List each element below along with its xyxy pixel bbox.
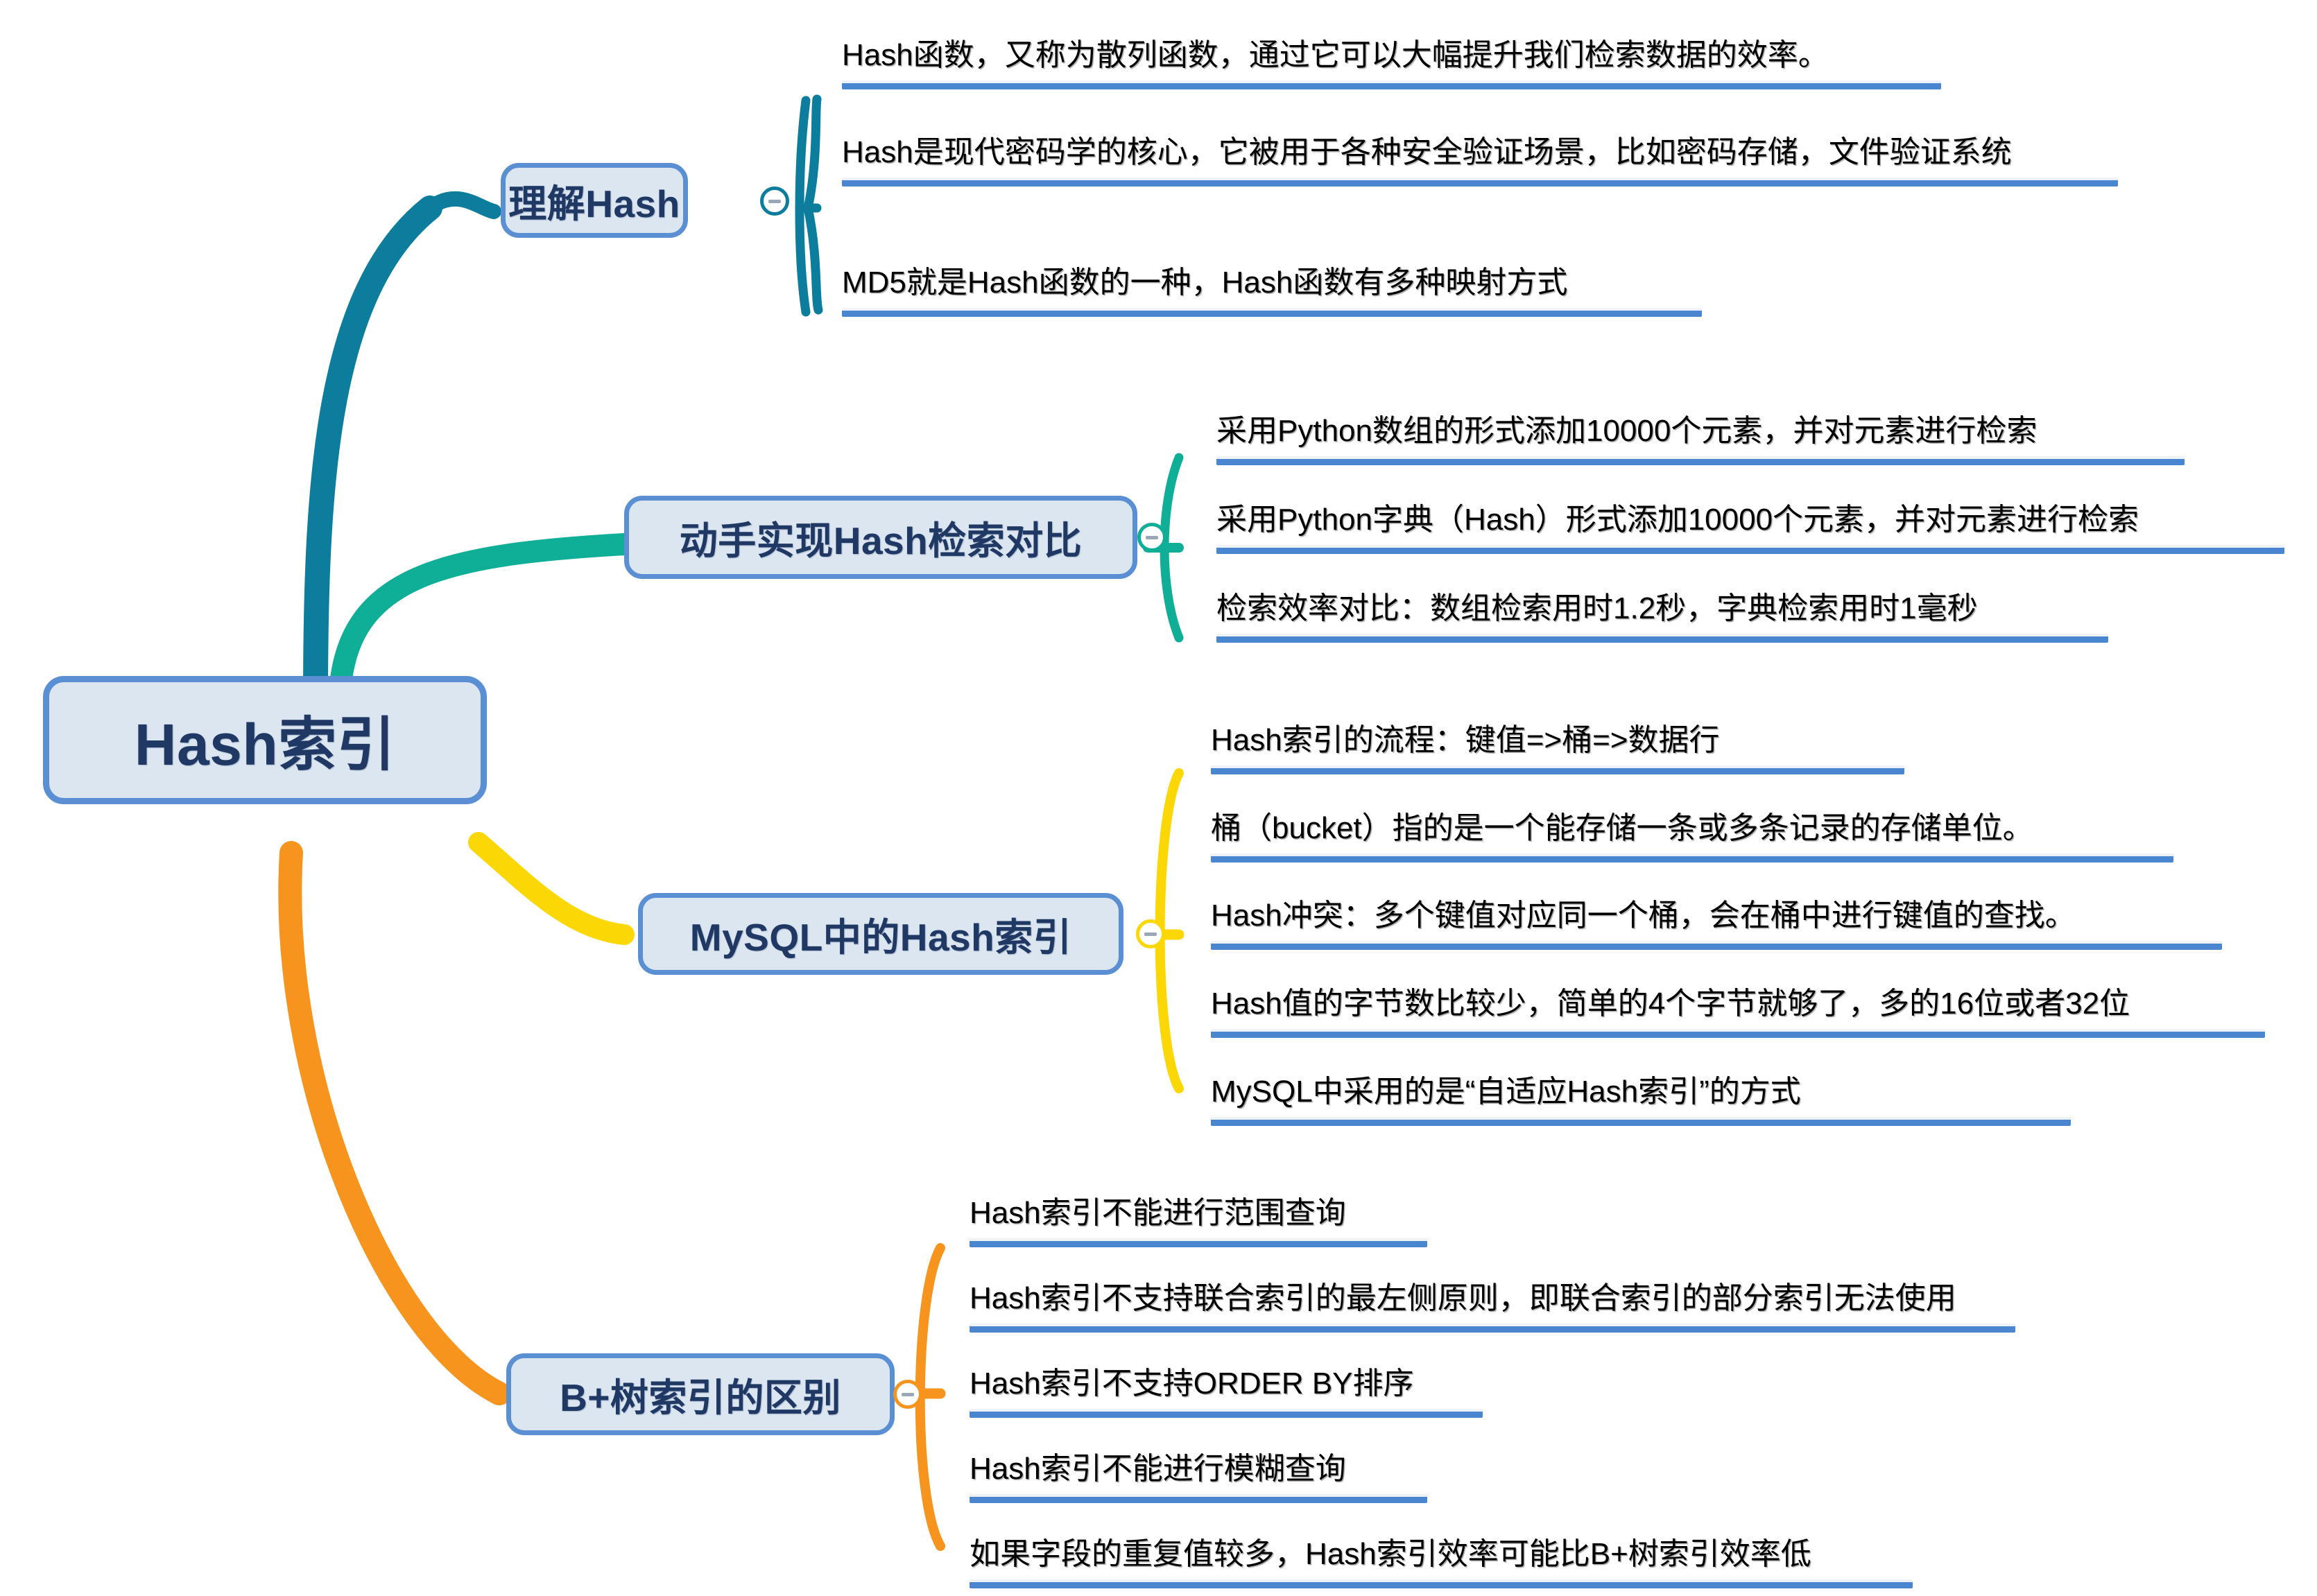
- leaf-text: Hash索引不支持ORDER BY排序: [970, 1367, 1414, 1400]
- leaf-underline: [970, 1324, 2015, 1333]
- trunk-orange: [290, 853, 499, 1394]
- leaf-item[interactable]: 采用Python字典（Hash）形式添加10000个元素，并对元素进行检索: [1212, 501, 2294, 554]
- leaf-item[interactable]: Hash索引的流程：键值=>桶=>数据行: [1207, 721, 1914, 774]
- minus-icon: [1144, 933, 1157, 936]
- leaf-text: 桶（bucket）指的是一个能存储一条或多条记录的存储单位。: [1211, 811, 2033, 845]
- leaf-underline: [1216, 545, 2284, 554]
- trunk-green: [340, 544, 624, 693]
- leaf-underline: [1211, 941, 2222, 950]
- leaf-text: Hash索引不能进行范围查询: [970, 1196, 1346, 1230]
- leaf-underline: [1211, 765, 1904, 774]
- mindmap-canvas: Hash索引 理解Hash Hash函数，又称为散列函数，通过它可以大幅提升我们…: [0, 0, 2317, 1596]
- branch-node-label: 动手实现Hash检索对比: [680, 510, 1083, 565]
- sub-teal-3: [808, 208, 818, 310]
- leaf-text: 采用Python字典（Hash）形式添加10000个元素，并对元素进行检索: [1216, 503, 2139, 537]
- branch-node-btree-difference[interactable]: B+树索引的区别: [506, 1353, 895, 1435]
- leaf-underline: [970, 1579, 1913, 1588]
- root-node[interactable]: Hash索引: [43, 676, 487, 804]
- leaf-underline: [1211, 1029, 2265, 1038]
- leaf-text: 检索效率对比：数组检索用时1.2秒，字典检索用时1毫秒: [1216, 591, 1978, 625]
- branch-node-mysql-hash-index[interactable]: MySQL中的Hash索引: [638, 893, 1123, 975]
- leaf-text: Hash索引不能进行模糊查询: [970, 1452, 1346, 1486]
- leaf-text: Hash索引不支持联合索引的最左侧原则，即联合索引的部分索引无法使用: [970, 1281, 1956, 1315]
- leaf-item[interactable]: Hash函数，又称为散列函数，通过它可以大幅提升我们检索数据的效率。: [838, 36, 1947, 89]
- leaf-text: Hash值的字节数比较少，简单的4个字节就够了，多的16位或者32位: [1211, 987, 2130, 1021]
- leaf-text: MD5就是Hash函数的一种，Hash函数有多种映射方式: [842, 266, 1567, 300]
- leaf-item[interactable]: MySQL中采用的是“自适应Hash索引”的方式: [1207, 1073, 2081, 1126]
- trunk-yellow: [479, 842, 624, 935]
- collapse-toggle-btree-difference[interactable]: [893, 1380, 922, 1409]
- leaf-item[interactable]: Hash索引不能进行模糊查询: [965, 1450, 1437, 1503]
- leaf-underline: [1216, 456, 2185, 465]
- leaf-underline: [1211, 853, 2173, 862]
- leaf-item[interactable]: Hash值的字节数比较少，简单的4个字节就够了，多的16位或者32位: [1207, 985, 2275, 1038]
- leaf-text: 如果字段的重复值较多，Hash索引效率可能比B+树索引效率低: [970, 1537, 1811, 1571]
- leaf-underline: [842, 308, 1702, 317]
- leaf-underline: [842, 80, 1941, 89]
- sub-teal-1: [808, 99, 817, 208]
- sub-teal-spine: [800, 101, 806, 312]
- leaf-text: Hash是现代密码学的核心，它被用于各种安全验证场景，比如密码存储，文件验证系统: [842, 135, 2012, 169]
- branch-node-hands-on-compare[interactable]: 动手实现Hash检索对比: [624, 496, 1137, 579]
- leaf-underline: [1211, 1117, 2071, 1126]
- leaf-item[interactable]: Hash是现代密码学的核心，它被用于各种安全验证场景，比如密码存储，文件验证系统: [838, 133, 2142, 187]
- branch-node-label: 理解Hash: [508, 173, 680, 228]
- leaf-underline: [1216, 634, 2108, 643]
- leaf-text: 采用Python数组的形式添加10000个元素，并对元素进行检索: [1216, 414, 2037, 448]
- sub-orange-spine: [920, 1248, 940, 1546]
- leaf-item[interactable]: 采用Python数组的形式添加10000个元素，并对元素进行检索: [1212, 412, 2197, 465]
- leaf-item[interactable]: MD5就是Hash函数的一种，Hash函数有多种映射方式: [838, 263, 1712, 317]
- branch-node-understand-hash[interactable]: 理解Hash: [501, 163, 688, 238]
- leaf-item[interactable]: Hash冲突：多个键值对应同一个桶，会在桶中进行键值的查找。: [1207, 896, 2233, 950]
- leaf-underline: [842, 177, 2118, 187]
- leaf-item[interactable]: Hash索引不支持联合索引的最左侧原则，即联合索引的部分索引无法使用: [965, 1279, 2026, 1333]
- leaf-item[interactable]: 检索效率对比：数组检索用时1.2秒，字典检索用时1毫秒: [1212, 589, 2121, 643]
- branch-node-label: B+树索引的区别: [560, 1367, 841, 1422]
- leaf-item[interactable]: Hash索引不能进行范围查询: [965, 1194, 1437, 1247]
- minus-icon: [768, 200, 781, 203]
- collapse-toggle-hands-on-compare[interactable]: [1137, 523, 1166, 552]
- leaf-text: Hash函数，又称为散列函数，通过它可以大幅提升我们检索数据的效率。: [842, 38, 1829, 72]
- branch-node-label: MySQL中的Hash索引: [690, 906, 1071, 962]
- leaf-item[interactable]: 桶（bucket）指的是一个能存储一条或多条记录的存储单位。: [1207, 809, 2185, 862]
- sub-green-spine: [1164, 458, 1179, 638]
- trunk-teal-tip: [430, 199, 494, 211]
- leaf-item[interactable]: Hash索引不支持ORDER BY排序: [965, 1364, 1492, 1418]
- leaf-item[interactable]: 如果字段的重复值较多，Hash索引效率可能比B+树索引效率低: [965, 1535, 1922, 1588]
- leaf-text: Hash冲突：多个键值对应同一个桶，会在桶中进行键值的查找。: [1211, 899, 2076, 933]
- collapse-toggle-understand-hash[interactable]: [760, 187, 789, 216]
- leaf-underline: [970, 1238, 1427, 1247]
- leaf-text: MySQL中采用的是“自适应Hash索引”的方式: [1211, 1075, 1801, 1109]
- leaf-text: Hash索引的流程：键值=>桶=>数据行: [1211, 723, 1720, 757]
- root-node-label: Hash索引: [135, 698, 395, 782]
- minus-icon: [902, 1393, 914, 1396]
- collapse-toggle-mysql-hash-index[interactable]: [1136, 919, 1165, 948]
- minus-icon: [1146, 536, 1158, 539]
- leaf-underline: [970, 1494, 1427, 1503]
- leaf-underline: [970, 1409, 1483, 1418]
- trunk-teal: [316, 208, 430, 700]
